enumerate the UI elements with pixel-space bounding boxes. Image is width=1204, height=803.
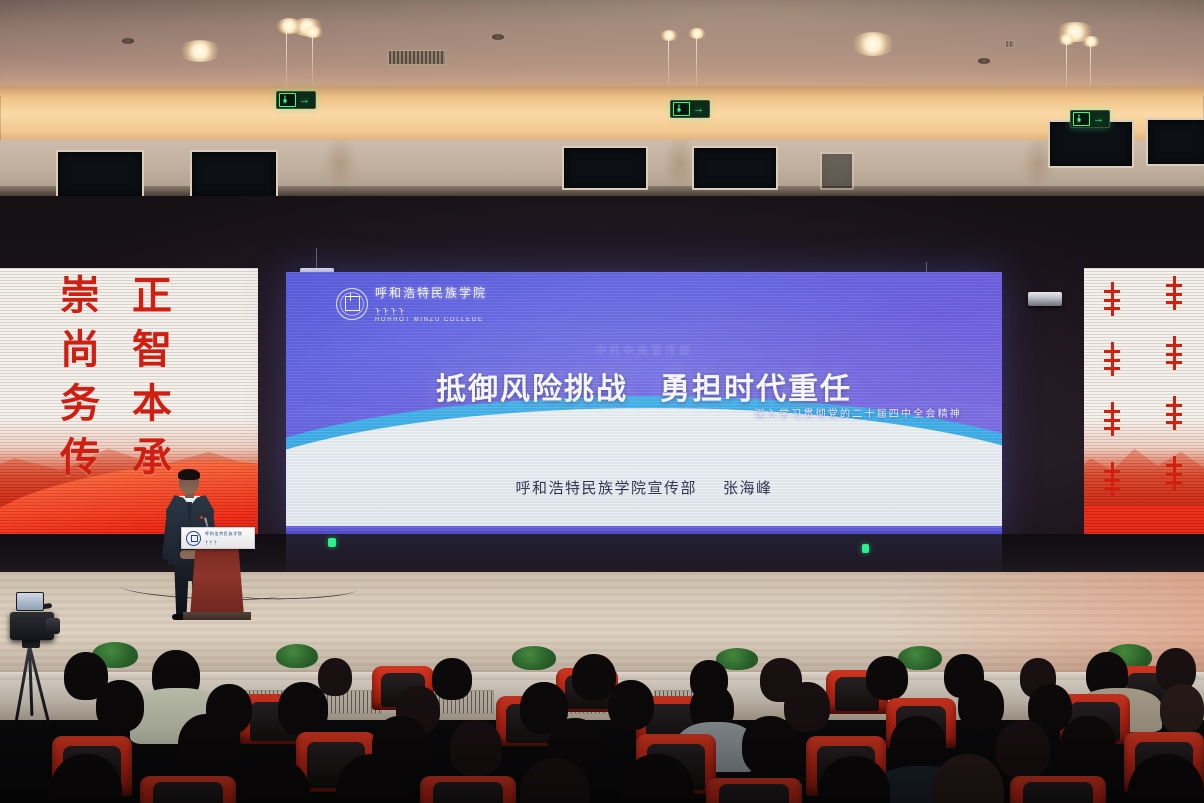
mongolian-glyph — [1108, 342, 1117, 376]
audience-head — [1060, 716, 1116, 776]
mongolian-script-column-2 — [1170, 276, 1179, 490]
wall-panel-2 — [190, 150, 278, 198]
stage-exit-indicator-2 — [862, 544, 869, 553]
slide-watermark-text: 中共中央宣传部 — [286, 342, 1002, 358]
slide-subtitle: 深入学习贯彻党的二十届四中全会精神 — [755, 405, 962, 420]
presentation-slide: 呼和浩特民族学院 ᠨ ᠨ ᠨ ᠨ HOHHOT MINZU COLLEGE 中共… — [286, 272, 1002, 534]
mongolian-glyph — [1170, 456, 1179, 490]
slide-subtitle-row: 深入学习贯彻党的二十届四中全会精神 — [693, 405, 962, 420]
exit-arrow-icon: → — [1093, 114, 1104, 125]
slide-title: 抵御风险挑战 勇担时代重任 — [286, 364, 1002, 408]
led-wall-right — [1084, 268, 1204, 558]
exit-arrow-icon: → — [693, 104, 704, 115]
floor-cable-3 — [628, 560, 748, 571]
mongolian-glyph — [1170, 336, 1179, 370]
pendant-spotlight-4 — [688, 28, 706, 39]
banner-char-l4: 传 — [60, 438, 100, 478]
pendant-spotlight-5 — [1058, 34, 1076, 45]
audience-area — [0, 636, 1204, 803]
mongolian-script-column-1 — [1108, 282, 1117, 496]
slide-logo-name-cn: 呼和浩特民族学院 — [375, 284, 487, 301]
mongolian-glyph — [1108, 282, 1117, 316]
ceiling-speaker-1 — [122, 38, 134, 44]
running-person-icon — [1073, 112, 1090, 126]
banner-char-l2: 尚 — [60, 330, 100, 370]
banner-char-r2: 智 — [132, 330, 172, 370]
audience-seat — [1010, 776, 1106, 803]
audience-head — [996, 720, 1050, 778]
camera-lens — [46, 618, 60, 634]
auditorium-scene: → → → 崇 尚 务 传 正 智 本 承 — [0, 0, 1204, 803]
ceiling-speaker-3 — [978, 58, 990, 64]
audience-head — [866, 656, 908, 700]
ceiling-downlight-1 — [178, 40, 222, 62]
running-person-icon — [673, 102, 690, 116]
audience-head — [742, 716, 798, 776]
audience-head — [278, 682, 328, 736]
banner-char-l1: 崇 — [60, 276, 100, 316]
podium-microphone-head — [203, 513, 209, 518]
pendant-spotlight-3 — [660, 30, 678, 41]
audience-head — [958, 680, 1004, 730]
audience-seat — [420, 776, 516, 803]
podium-nameplate-text: 呼和浩特民族学院 ᠨ ᠨ ᠨ — [205, 531, 243, 546]
slide-presenter-row: 呼和浩特民族学院宣传部张海峰 — [286, 477, 1002, 498]
wall-panel-3 — [562, 146, 648, 190]
slide-logo-name-mn: ᠨ ᠨ ᠨ ᠨ — [375, 301, 487, 317]
camera-flip-lcd-screen — [16, 592, 44, 611]
wall-panel-7 — [820, 152, 854, 190]
projection-screen: 呼和浩特民族学院 ᠨ ᠨ ᠨ ᠨ HOHHOT MINZU COLLEGE 中共… — [286, 272, 1002, 534]
running-person-icon — [279, 93, 296, 107]
stage-plant — [512, 646, 556, 670]
mongolian-glyph — [1170, 276, 1179, 310]
college-seal-icon — [186, 531, 201, 546]
banner-char-r3: 本 — [132, 384, 172, 424]
college-seal-icon — [336, 288, 368, 320]
audience-head — [432, 658, 472, 700]
pendant-spotlight-1 — [276, 18, 302, 34]
ceiling-speaker-2 — [492, 34, 504, 40]
wall-panel-1 — [56, 150, 144, 198]
podium-base — [183, 612, 251, 620]
wall-panel-4 — [692, 146, 778, 190]
ceiling-downlight-2 — [850, 32, 896, 56]
audience-head — [1160, 684, 1204, 734]
banner-column-right: 正 智 本 承 — [132, 276, 172, 478]
slide-white-panel — [286, 408, 1002, 534]
mongolian-glyph — [1170, 396, 1179, 430]
banner-column-left: 崇 尚 务 传 — [60, 276, 100, 478]
exit-sign-left: → — [276, 91, 316, 109]
exit-arrow-icon: → — [299, 95, 310, 106]
led-scanlines-right — [1084, 268, 1204, 558]
exit-sign-right: → — [1070, 110, 1110, 128]
audience-seat — [706, 778, 802, 803]
audience-head — [318, 658, 352, 696]
pendant-spotlight-2 — [303, 26, 323, 38]
podium-org-mn: ᠨ ᠨ ᠨ — [205, 538, 243, 546]
slide-logo-lockup: 呼和浩特民族学院 ᠨ ᠨ ᠨ ᠨ HOHHOT MINZU COLLEGE — [336, 284, 487, 323]
audience-seat — [140, 776, 236, 803]
wall-panel-6 — [1146, 118, 1204, 166]
slide-bottom-bar — [286, 526, 1002, 534]
audience-head — [450, 720, 502, 776]
ceiling-vent-1 — [388, 50, 446, 65]
mongolian-glyph — [1108, 402, 1117, 436]
slide-presenter-name: 张海峰 — [723, 480, 773, 497]
subtitle-rule — [693, 412, 749, 414]
pendant-spotlight-6 — [1082, 36, 1100, 47]
audience-head — [96, 680, 144, 732]
exit-sign-center: → — [670, 100, 710, 118]
presenter-hair — [178, 469, 200, 480]
banner-char-l3: 务 — [60, 384, 100, 424]
slide-presenter-org: 呼和浩特民族学院宣传部 — [515, 480, 697, 497]
stage-plant — [276, 644, 318, 668]
stage-light-11 — [1028, 292, 1062, 306]
slide-logo-name-en: HOHHOT MINZU COLLEGE — [375, 317, 487, 323]
stage-exit-indicator — [328, 538, 336, 547]
audience-head — [608, 680, 654, 730]
podium — [190, 548, 244, 616]
audience-head — [178, 714, 236, 776]
podium-nameplate: 呼和浩特民族学院 ᠨ ᠨ ᠨ — [181, 527, 255, 549]
ceiling-vent-2 — [1005, 40, 1015, 48]
podium-org-cn: 呼和浩特民族学院 — [205, 531, 243, 537]
truss-rod-1 — [316, 248, 317, 270]
seal-inner-mark — [345, 296, 360, 311]
mongolian-glyph — [1108, 462, 1117, 496]
banner-char-r1: 正 — [132, 276, 172, 316]
